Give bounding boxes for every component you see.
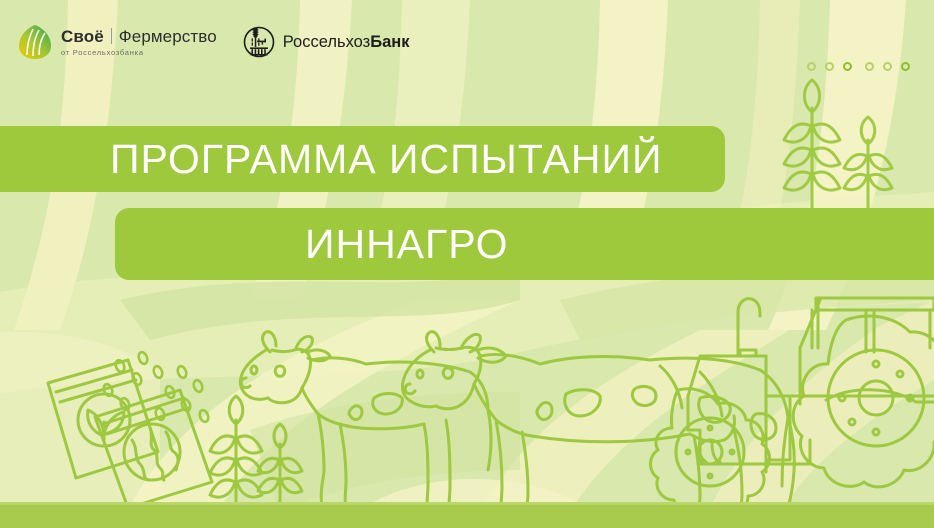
svoe-logo-product: Фермерство bbox=[119, 28, 217, 45]
wheat-stalk-icon bbox=[258, 424, 302, 506]
ground-strip bbox=[0, 505, 934, 528]
dot-group-right bbox=[865, 62, 910, 71]
promo-banner: Своё Фермерство от Россельхозбанка bbox=[0, 0, 934, 528]
seed-packet-globe-icon bbox=[95, 390, 212, 508]
title-bar-primary: ПРОГРАММА ИСПЫТАНИЙ bbox=[0, 126, 725, 192]
svoe-logo-subtitle: от Россельхозбанка bbox=[61, 49, 217, 57]
logo-divider bbox=[111, 28, 112, 44]
rshb-logo-name-bold: Банк bbox=[370, 33, 409, 51]
rshb-logo-name: Россельхоз bbox=[283, 33, 370, 51]
svoe-fermerstvo-logo[interactable]: Своё Фермерство от Россельхозбанка bbox=[18, 24, 217, 60]
logo-bar: Своё Фермерство от Россельхозбанка bbox=[18, 24, 409, 60]
ring-dot-icon bbox=[825, 62, 834, 71]
wheat-stalk-icon bbox=[784, 80, 840, 210]
page-title-line2: ИННАГРО bbox=[305, 221, 509, 268]
wheat-stalk-icon bbox=[210, 396, 262, 508]
page-title-line1: ПРОГРАММА ИСПЫТАНИЙ bbox=[110, 136, 662, 183]
dot-group-left bbox=[807, 62, 852, 71]
ring-dot-icon bbox=[865, 62, 874, 71]
svoe-leaf-mark-icon bbox=[18, 24, 52, 60]
ring-dot-icon bbox=[807, 62, 816, 71]
rosselkhozbank-logo[interactable]: РоссельхозБанк bbox=[243, 26, 410, 58]
cow-outline-icon bbox=[402, 332, 794, 512]
ring-dot-icon bbox=[843, 62, 852, 71]
title-bar-secondary: ИННАГРО bbox=[115, 208, 934, 280]
wheat-stalk-icon bbox=[844, 117, 892, 212]
ring-dot-icon bbox=[883, 62, 892, 71]
rshb-logo-text: РоссельхозБанк bbox=[283, 33, 410, 52]
ring-dot-icon bbox=[901, 62, 910, 71]
svoe-logo-name: Своё bbox=[61, 28, 104, 45]
decorative-dots bbox=[807, 62, 910, 71]
rshb-wheat-key-emblem-icon bbox=[243, 26, 275, 58]
